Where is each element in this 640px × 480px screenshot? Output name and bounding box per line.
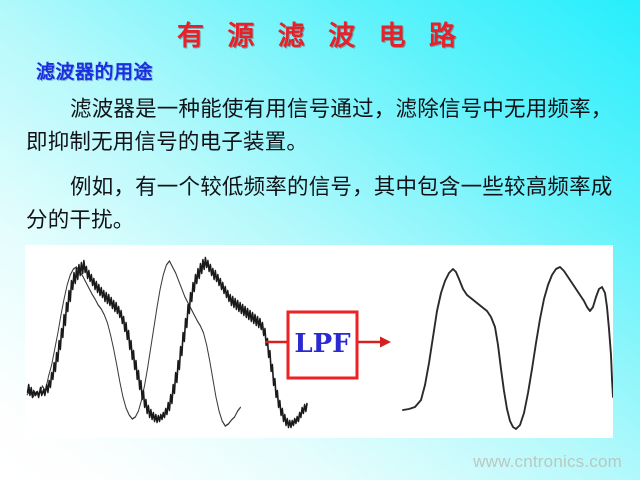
body-paragraph-1: 滤波器是一种能使有用信号通过，滤除信号中无用频率，即抑制无用信号的电子装置。 [26,93,622,159]
figure-panel: LPF [25,245,613,438]
page-title: 有 源 滤 波 电 路 [0,14,640,53]
lpf-block: LPF [288,312,357,378]
output-arrow-icon [358,337,391,348]
body-paragraph-2: 例如，有一个较低频率的信号，其中包含一些较高频率成分的干扰。 [26,171,622,237]
lpf-block-label: LPF [294,329,351,359]
slide-canvas: 有 源 滤 波 电 路 滤波器的用途 滤波器是一种能使有用信号通过，滤除信号中无… [0,0,640,480]
filtered-output-waveform-icon [403,267,612,429]
filtered-output-waveform-tail [612,379,613,397]
site-watermark: www.cntronics.com [473,452,622,472]
section-heading: 滤波器的用途 [36,57,153,84]
